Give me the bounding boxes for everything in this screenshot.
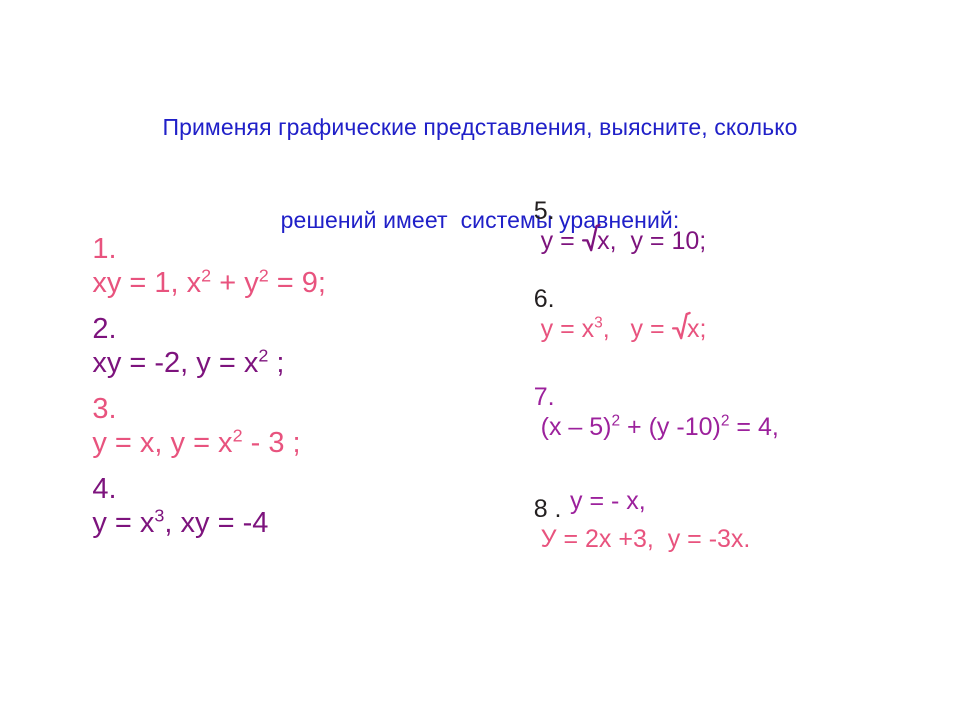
eq4-sup-a: 3: [154, 505, 164, 525]
eq5-seg-pre: y =: [534, 227, 582, 255]
eq6-seg-a: y = x: [534, 315, 594, 343]
list-item-3: 3. y = x, y = x2 - 3 ;: [44, 358, 474, 438]
equation-list-right: 5. y = x, y = 10; 6. y = x3, y = x; 7. (…: [492, 166, 942, 504]
eq7-seg-a: (x – 5): [534, 413, 612, 441]
eq4-seg-a: y = x: [92, 507, 154, 539]
list-item-2: 2. xy = -2, y = x2 ;: [44, 278, 474, 358]
list-item-6-number: 6.: [534, 284, 560, 314]
eq5-seg-post: x, y = 10;: [597, 227, 706, 255]
list-item-4: 4. y = x3, xy = -4: [44, 438, 474, 518]
list-item-6: 6. y = x3, y = x;: [492, 254, 942, 352]
eq6-seg-b: , y =: [603, 315, 672, 343]
eq6-sup-a: 3: [594, 315, 603, 332]
list-item-7-equation: (x – 5)2 + (y -10)2 = 4,: [534, 413, 779, 441]
list-item-3-number: 3.: [92, 392, 158, 426]
list-item-2-number: 2.: [92, 312, 158, 346]
eq4-seg-b: , xy = -4: [164, 507, 268, 539]
eq7-seg-c: = 4,: [729, 413, 778, 441]
slide-canvas: Применяя графические представления, выяс…: [0, 0, 960, 720]
list-item-7-number: 7.: [534, 382, 578, 412]
list-item-1-number: 1.: [92, 232, 158, 266]
list-item-4-equation: y = x3, xy = -4: [92, 507, 268, 539]
list-item-6-equation: y = x3, y = x;: [534, 315, 707, 343]
list-item-8: 8 . У = 2x +3, y = -3x.: [492, 464, 942, 504]
list-item-1: 1. xy = 1, x2 + y2 = 9;: [44, 198, 474, 278]
equation-list-left: 1. xy = 1, x2 + y2 = 9; 2. xy = -2, y = …: [44, 198, 474, 518]
list-item-5-number: 5.: [534, 196, 560, 226]
list-item-5-equation: y = x, y = 10;: [534, 227, 707, 255]
list-item-8-number: 8 .: [534, 494, 572, 524]
list-item-7: 7. (x – 5)2 + (y -10)2 = 4, y = - x,: [492, 352, 942, 464]
eq7-sup-a: 2: [611, 413, 620, 430]
list-item-8-equation: У = 2x +3, y = -3x.: [534, 525, 751, 553]
page-title-line-1: Применяя графические представления, выяс…: [0, 112, 960, 143]
list-item-5: 5. y = x, y = 10;: [492, 166, 942, 254]
list-item-4-number: 4.: [92, 472, 158, 506]
eq7-seg-b: + (y -10): [620, 413, 721, 441]
